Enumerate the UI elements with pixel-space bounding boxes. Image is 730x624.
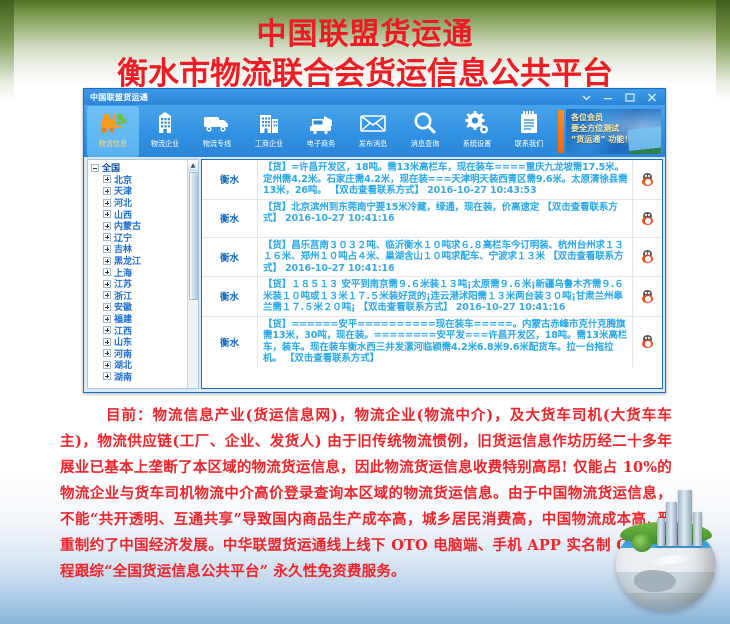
chevron-down-icon[interactable] xyxy=(575,90,597,104)
tree-expand-icon[interactable] xyxy=(103,338,111,346)
row-region: 衡水 xyxy=(202,277,258,316)
building-1 xyxy=(666,502,677,546)
ecommerce-icon xyxy=(306,109,336,137)
office-building-icon xyxy=(255,109,283,137)
toolbar-label: 物流信息 xyxy=(99,138,128,148)
banner-line-1: 各位会员 xyxy=(571,112,661,123)
application-window: 中国联盟货运通 xyxy=(83,88,666,393)
tree-expand-icon[interactable] xyxy=(103,210,111,218)
row-region: 衡水 xyxy=(202,238,258,277)
tree-node-jiangxi[interactable]: 江西 xyxy=(91,324,187,336)
row-region: 衡水 xyxy=(202,160,258,199)
table-row[interactable]: 衡水 【货】昌乐莒南３０３２吨、临沂衡水１０吨求６.８高栏车今订明装、杭州台州求… xyxy=(202,238,662,278)
main-toolbar: 物流信息 物流企业 xyxy=(84,105,665,157)
tree-node-liaoning[interactable]: 辽宁 xyxy=(91,232,187,244)
qq-icon xyxy=(642,335,653,348)
banner-line-3: “货运通” 功能！ xyxy=(571,134,661,145)
tree-node-shanxi[interactable]: 山西 xyxy=(91,208,187,220)
toolbar-label: 联系我们 xyxy=(515,138,544,148)
tree-expand-icon[interactable] xyxy=(103,303,111,311)
tree-node-shandong[interactable]: 山东 xyxy=(91,336,187,348)
tree-expand-icon[interactable] xyxy=(103,361,111,369)
building-3 xyxy=(693,512,702,546)
maximize-icon[interactable] xyxy=(619,90,641,104)
qq-icon xyxy=(642,290,653,303)
tree-node-hubei[interactable]: 湖北 xyxy=(91,359,187,371)
tree-expand-icon[interactable] xyxy=(103,349,111,357)
tree-node-zhejiang[interactable]: 浙江 xyxy=(91,290,187,302)
tree-node-jiangsu[interactable]: 江苏 xyxy=(91,278,187,290)
window-controls xyxy=(575,90,663,104)
toolbar-label: 消息查询 xyxy=(411,138,440,148)
globe-reflection xyxy=(626,600,706,612)
row-contact-button[interactable] xyxy=(632,160,662,199)
table-row[interactable]: 衡水 【货】======安平==========现在装车=====。内蒙古赤峰市… xyxy=(202,317,662,367)
row-timestamp: 2016-10-27 10:43:53 xyxy=(427,185,536,196)
table-row[interactable]: 衡水 【货】１８５１３ 安平到南京需９.６米装１３吨¡太原需９.６米¡新疆乌鲁木… xyxy=(202,277,662,317)
tree-node-shanghai[interactable]: 上海 xyxy=(91,266,187,278)
forklift-icon xyxy=(98,109,128,137)
row-message-text: 【货】１８５１３ 安平到南京需９.６米装１３吨¡太原需９.６米¡新疆乌鲁木齐需９… xyxy=(263,279,624,313)
toolbar-label: 物流企业 xyxy=(151,138,180,148)
notebook-icon xyxy=(516,109,542,137)
row-timestamp: 2016-10-27 10:41:16 xyxy=(285,263,394,274)
row-region: 衡水 xyxy=(202,317,258,367)
promo-paragraph: 目前：物流信息产业(货运信息网)，物流企业(物流中介)，及大货车司机(大货车车主… xyxy=(60,403,672,585)
tree-expand-icon[interactable] xyxy=(103,233,111,241)
banner-line-2: 要全方位测试 xyxy=(571,123,661,134)
scroll-up-icon[interactable]: ▲ xyxy=(188,160,198,171)
toolbar-item-logistics-info[interactable]: 物流信息 xyxy=(87,106,139,157)
globe-tree xyxy=(632,534,652,552)
toolbar-item-system-settings[interactable]: 系统设置 xyxy=(451,106,503,157)
envelope-icon xyxy=(358,109,388,137)
tree-expand-icon[interactable] xyxy=(103,245,111,253)
tree-expand-icon[interactable] xyxy=(103,291,111,299)
toolbar-label: 电子商务 xyxy=(307,138,336,148)
minimize-icon[interactable] xyxy=(597,90,619,104)
row-message-text: 【货】======安平==========现在装车=====。内蒙古赤峰市克什克… xyxy=(263,319,627,365)
building-4 xyxy=(657,518,665,546)
toolbar-label: 工商企业 xyxy=(255,138,284,148)
row-message: 【货】北京滨州到东莞南宁要15米冷藏，绿通，现在装，价高速定 【双击查看联系方式… xyxy=(258,200,632,237)
toolbar-label: 物流专线 xyxy=(203,138,232,148)
tree-node-hebei[interactable]: 河北 xyxy=(91,197,187,209)
truck-icon xyxy=(202,109,232,137)
tree-expand-icon[interactable] xyxy=(103,372,111,380)
globe-city-graphic xyxy=(610,504,722,610)
region-tree-panel: 全国 北京 天津 河北 山西 内蒙古 辽宁 吉林 黑龙江 上海 江苏 浙江 安徽… xyxy=(87,159,199,389)
row-message: 【货】１８５１３ 安平到南京需９.６米装１３吨¡太原需９.６米¡新疆乌鲁木齐需９… xyxy=(258,277,632,316)
row-message: 【货】昌乐莒南３０３２吨、临沂衡水１０吨求６.８高栏车今订明装、杭州台州求１３１… xyxy=(258,238,632,277)
row-message: 【货】======安平==========现在装车=====。内蒙古赤峰市克什克… xyxy=(258,317,632,367)
close-icon[interactable] xyxy=(641,90,663,104)
row-timestamp: 2016-10-27 10:41:16 xyxy=(456,302,565,313)
window-body: 全国 北京 天津 河北 山西 内蒙古 辽宁 吉林 黑龙江 上海 江苏 浙江 安徽… xyxy=(84,157,665,392)
gear-icon xyxy=(463,109,491,137)
region-tree: 全国 北京 天津 河北 山西 内蒙古 辽宁 吉林 黑龙江 上海 江苏 浙江 安徽… xyxy=(88,160,187,388)
toolbar-item-contact-us[interactable]: 联系我们 xyxy=(503,106,555,157)
tree-node-inner-mongolia[interactable]: 内蒙古 xyxy=(91,220,187,232)
tree-node-fujian[interactable]: 福建 xyxy=(91,313,187,325)
toolbar-label: 系统设置 xyxy=(463,138,492,148)
freight-message-table: 衡水 【货】=许昌开发区，18吨。需13米高栏车，现在装车====重庆九龙坡需1… xyxy=(201,159,663,389)
row-timestamp: 2016-10-27 10:41:16 xyxy=(285,213,394,224)
toolbar-item-logistics-line[interactable]: 物流专线 xyxy=(191,106,243,157)
tree-expand-icon[interactable] xyxy=(103,199,111,207)
tree-node-jilin[interactable]: 吉林 xyxy=(91,243,187,255)
member-notice-banner[interactable]: 各位会员 要全方位测试 “货运通” 功能！ xyxy=(566,109,661,154)
row-contact-button[interactable] xyxy=(632,317,662,367)
tree-node-label: 湖南 xyxy=(114,370,132,383)
tree-expand-icon[interactable] xyxy=(103,257,111,265)
window-title-text: 中国联盟货运通 xyxy=(90,92,148,103)
building-2 xyxy=(678,490,692,546)
tree-node-tianjin[interactable]: 天津 xyxy=(91,185,187,197)
scrollbar-thumb[interactable] xyxy=(189,172,198,300)
tree-expand-icon[interactable] xyxy=(103,268,111,276)
tree-node-anhui[interactable]: 安徽 xyxy=(91,301,187,313)
window-title-bar[interactable]: 中国联盟货运通 xyxy=(84,89,665,105)
tree-scrollbar[interactable]: ▲ xyxy=(187,160,198,388)
qq-icon xyxy=(642,173,653,186)
tree-expand-icon[interactable] xyxy=(103,315,111,323)
search-icon xyxy=(411,109,439,137)
toolbar-label: 发布消息 xyxy=(359,138,388,148)
row-region: 衡水 xyxy=(202,200,258,237)
row-message: 【货】=许昌开发区，18吨。需13米高栏车，现在装车====重庆九龙坡需17.5… xyxy=(258,160,632,199)
row-contact-button[interactable] xyxy=(632,238,662,277)
page-header: 中国联盟货运通 衡水市物流联合会货运信息公共平台 xyxy=(0,0,730,92)
toolbar-divider xyxy=(558,110,564,153)
building-icon xyxy=(152,109,178,137)
toolbar-item-publish-message[interactable]: 发布消息 xyxy=(347,106,399,157)
tree-collapse-icon[interactable] xyxy=(91,164,99,172)
toolbar-item-message-query[interactable]: 消息查询 xyxy=(399,106,451,157)
tree-expand-icon[interactable] xyxy=(103,280,111,288)
tree-node-hunan[interactable]: 湖南 xyxy=(91,371,187,383)
row-contact-button[interactable] xyxy=(632,200,662,237)
page-title-secondary: 衡水市物流联合会货运信息公共平台 xyxy=(0,56,730,92)
tree-expand-icon[interactable] xyxy=(103,326,111,334)
tree-node-beijing[interactable]: 北京 xyxy=(91,174,187,186)
qq-icon xyxy=(642,250,653,263)
table-row[interactable]: 衡水 【货】北京滨州到东莞南宁要15米冷藏，绿通，现在装，价高速定 【双击查看联… xyxy=(202,200,662,238)
tree-node-henan[interactable]: 河南 xyxy=(91,348,187,360)
table-row[interactable]: 衡水 【货】=许昌开发区，18吨。需13米高栏车，现在装车====重庆九龙坡需1… xyxy=(202,160,662,200)
tree-node-root[interactable]: 全国 xyxy=(91,162,187,174)
qq-icon xyxy=(642,212,653,225)
toolbar-item-logistics-company[interactable]: 物流企业 xyxy=(139,106,191,157)
toolbar-item-ecommerce[interactable]: 电子商务 xyxy=(295,106,347,157)
toolbar-item-industry-commerce[interactable]: 工商企业 xyxy=(243,106,295,157)
page-title-primary: 中国联盟货运通 xyxy=(0,18,730,52)
tree-expand-icon[interactable] xyxy=(103,222,111,230)
tree-node-heilongjiang[interactable]: 黑龙江 xyxy=(91,255,187,267)
row-contact-button[interactable] xyxy=(632,277,662,316)
tree-expand-icon[interactable] xyxy=(103,187,111,195)
tree-expand-icon[interactable] xyxy=(103,175,111,183)
